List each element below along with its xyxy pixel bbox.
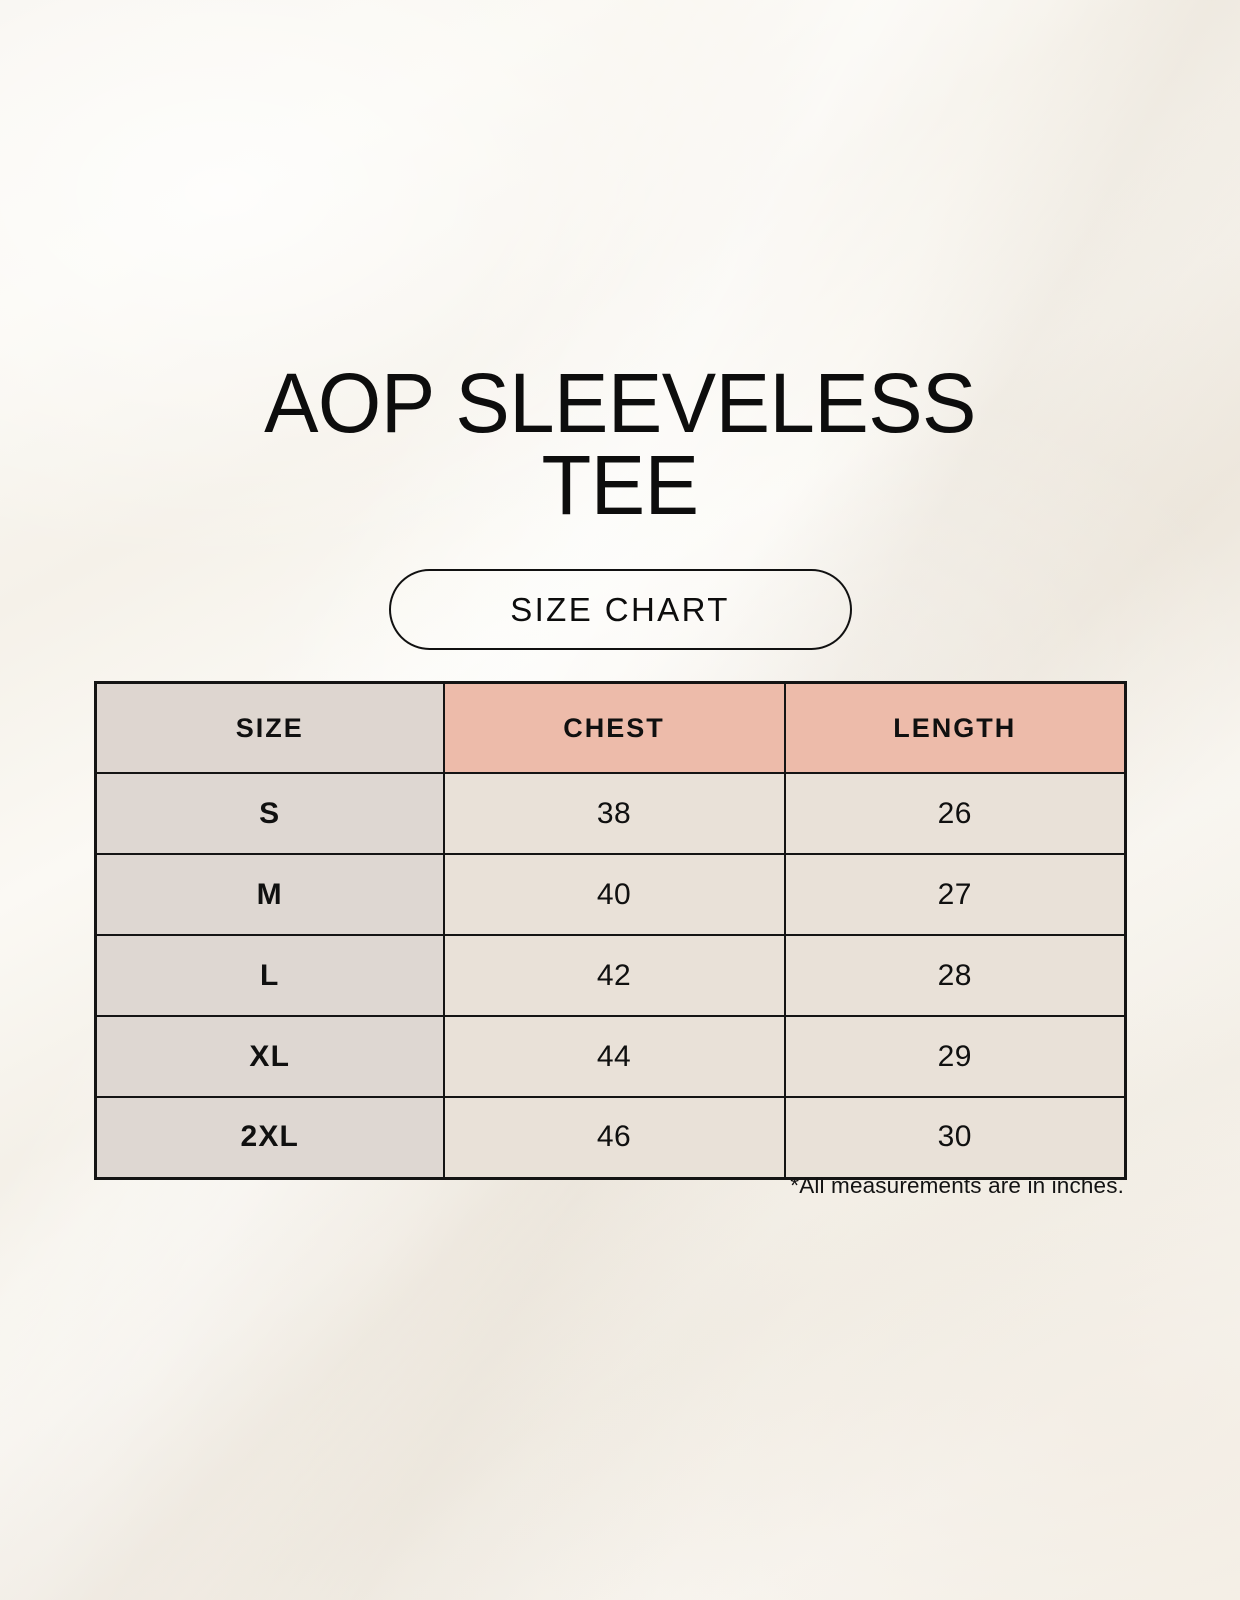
- size-table-body: S 38 26 M 40 27 L 42 28 XL 44 29: [96, 773, 1126, 1178]
- cell-length: 29: [785, 1016, 1126, 1097]
- size-chart-pill-wrap: SIZE CHART: [0, 569, 1240, 650]
- table-row: S 38 26: [96, 773, 1126, 854]
- size-table-wrap: SIZE CHEST LENGTH S 38 26 M 40 27 L: [94, 681, 1124, 1180]
- cell-chest: 38: [444, 773, 785, 854]
- size-chart-page: AOP SLEEVELESS TEE SIZE CHART SIZE CHEST…: [0, 0, 1240, 1600]
- cell-length: 26: [785, 773, 1126, 854]
- table-row: L 42 28: [96, 935, 1126, 1016]
- cell-size: 2XL: [96, 1097, 444, 1178]
- cell-chest: 42: [444, 935, 785, 1016]
- table-row: XL 44 29: [96, 1016, 1126, 1097]
- cell-chest: 46: [444, 1097, 785, 1178]
- size-chart-pill[interactable]: SIZE CHART: [389, 569, 852, 650]
- cell-size: L: [96, 935, 444, 1016]
- page-title-block: AOP SLEEVELESS TEE: [0, 362, 1240, 527]
- page-title: AOP SLEEVELESS TEE: [251, 362, 988, 527]
- column-header-chest: CHEST: [444, 683, 785, 774]
- column-header-length: LENGTH: [785, 683, 1126, 774]
- cell-size: XL: [96, 1016, 444, 1097]
- column-header-size: SIZE: [96, 683, 444, 774]
- cell-chest: 44: [444, 1016, 785, 1097]
- measurement-units-footnote: *All measurements are in inches.: [94, 1173, 1124, 1199]
- cell-length: 28: [785, 935, 1126, 1016]
- cell-length: 30: [785, 1097, 1126, 1178]
- cell-size: M: [96, 854, 444, 935]
- size-table: SIZE CHEST LENGTH S 38 26 M 40 27 L: [94, 681, 1127, 1180]
- cell-length: 27: [785, 854, 1126, 935]
- size-table-head: SIZE CHEST LENGTH: [96, 683, 1126, 774]
- table-row: 2XL 46 30: [96, 1097, 1126, 1178]
- table-row: M 40 27: [96, 854, 1126, 935]
- cell-size: S: [96, 773, 444, 854]
- table-header-row: SIZE CHEST LENGTH: [96, 683, 1126, 774]
- cell-chest: 40: [444, 854, 785, 935]
